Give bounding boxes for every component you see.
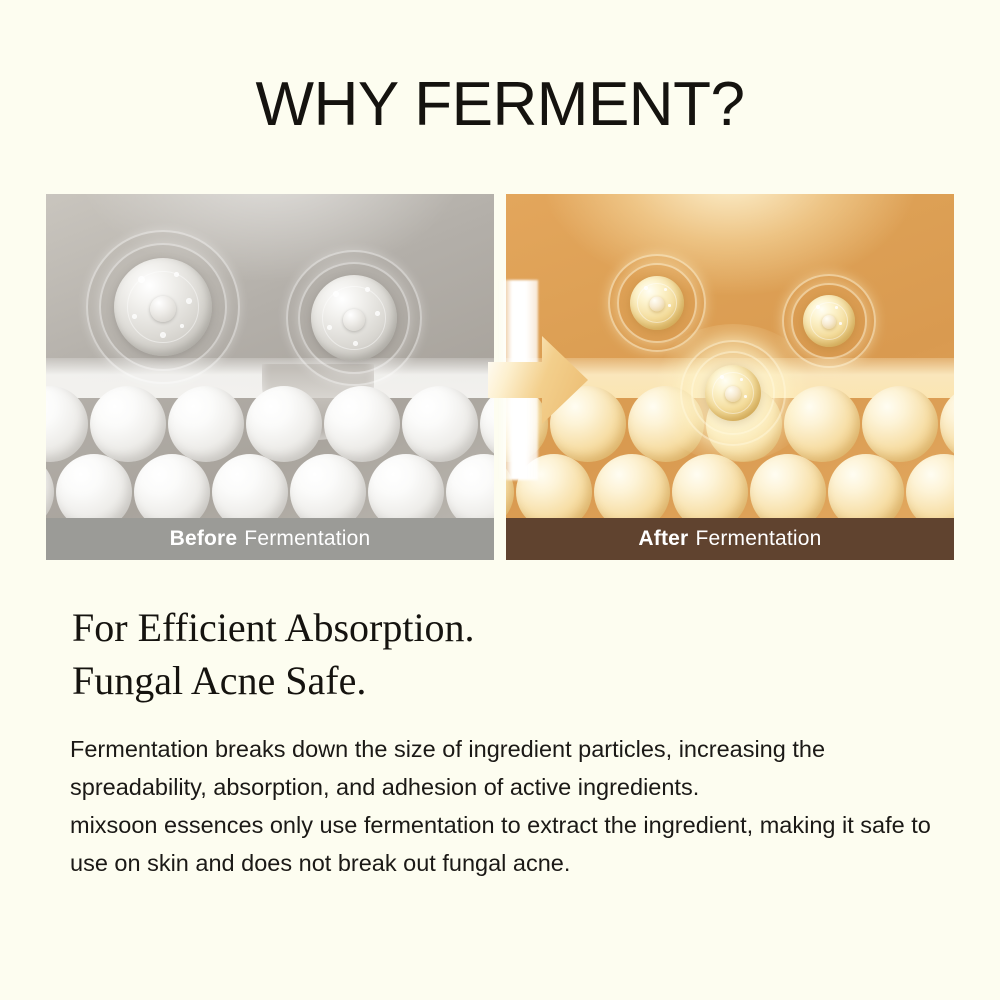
droplet-bubble	[327, 325, 332, 330]
after-cell-row-back	[506, 454, 954, 518]
droplet-bubble	[744, 395, 747, 398]
droplet-bubble	[740, 378, 743, 381]
skin-cell	[750, 454, 826, 518]
skin-cell	[828, 454, 904, 518]
droplet-bubble	[333, 291, 339, 297]
skin-cell	[56, 454, 132, 518]
headline-line-1: For Efficient Absorption.	[72, 602, 932, 655]
droplet-body	[311, 275, 397, 361]
droplet-bubble	[132, 314, 137, 319]
droplet-bubble	[668, 304, 671, 307]
skin-cell	[368, 454, 444, 518]
droplet-bubble	[174, 272, 179, 277]
infographic-page: WHY FERMENT?	[0, 0, 1000, 1000]
before-cell-row-back	[46, 454, 494, 518]
droplet-bubble	[720, 375, 724, 379]
after-particle-floating-2	[784, 276, 874, 366]
panel-before-fermentation: Before Fermentation	[46, 194, 494, 560]
skin-cell	[402, 386, 478, 462]
headline: For Efficient Absorption. Fungal Acne Sa…	[72, 602, 932, 708]
caption-after-bold: After	[638, 527, 688, 551]
caption-before: Before Fermentation	[46, 518, 494, 560]
droplet-core	[150, 296, 176, 322]
skin-cell	[212, 454, 288, 518]
droplet-body	[114, 258, 212, 356]
droplet-bubble	[839, 322, 842, 325]
droplet-bubble	[353, 341, 358, 346]
droplet-body	[630, 276, 684, 330]
skin-cell	[940, 386, 954, 462]
droplet-bubble	[365, 287, 370, 292]
droplet-core	[822, 315, 836, 329]
before-particle-large-2	[288, 252, 420, 384]
skin-cell	[862, 386, 938, 462]
after-particle-floating-1	[610, 256, 704, 350]
before-particle-large-1	[88, 232, 238, 382]
droplet-bubble	[644, 286, 648, 290]
skin-cell	[168, 386, 244, 462]
caption-after-rest: Fermentation	[695, 527, 821, 551]
droplet-bubble	[138, 276, 145, 283]
after-particle-absorbed	[682, 342, 784, 444]
page-title: WHY FERMENT?	[0, 74, 1000, 136]
droplet-bubble	[835, 306, 838, 309]
droplet-core	[650, 297, 665, 312]
skin-cell	[784, 386, 860, 462]
body-paragraph-2: mixsoon essences only use fermentation t…	[70, 806, 950, 882]
skin-cell	[324, 386, 400, 462]
caption-before-bold: Before	[170, 527, 238, 551]
headline-line-2: Fungal Acne Safe.	[72, 655, 932, 708]
skin-cell	[446, 454, 494, 518]
skin-cell	[672, 454, 748, 518]
skin-cell	[290, 454, 366, 518]
before-skin-surface	[46, 358, 494, 518]
droplet-body	[803, 295, 855, 347]
droplet-bubble	[375, 311, 380, 316]
arrow-right-icon	[480, 322, 596, 438]
skin-cell	[46, 454, 54, 518]
droplet-body	[705, 365, 761, 421]
droplet-bubble	[816, 305, 820, 309]
droplet-bubble	[160, 332, 166, 338]
before-cell-row-front	[46, 386, 494, 462]
body-paragraph-1: Fermentation breaks down the size of ing…	[70, 730, 950, 806]
before-illustration	[46, 194, 494, 518]
body-copy: Fermentation breaks down the size of ing…	[70, 730, 950, 882]
skin-cell	[134, 454, 210, 518]
caption-before-rest: Fermentation	[244, 527, 370, 551]
droplet-core	[343, 309, 365, 331]
droplet-bubble	[664, 288, 667, 291]
droplet-bubble	[186, 298, 192, 304]
skin-cell	[46, 386, 88, 462]
droplet-core	[725, 386, 741, 402]
skin-cell	[906, 454, 954, 518]
before-after-comparison: Before Fermentation	[46, 194, 954, 560]
skin-cell	[90, 386, 166, 462]
droplet-bubble	[180, 324, 184, 328]
skin-cell	[246, 386, 322, 462]
skin-cell	[594, 454, 670, 518]
caption-after: After Fermentation	[506, 518, 954, 560]
transition-arrow	[480, 322, 596, 438]
